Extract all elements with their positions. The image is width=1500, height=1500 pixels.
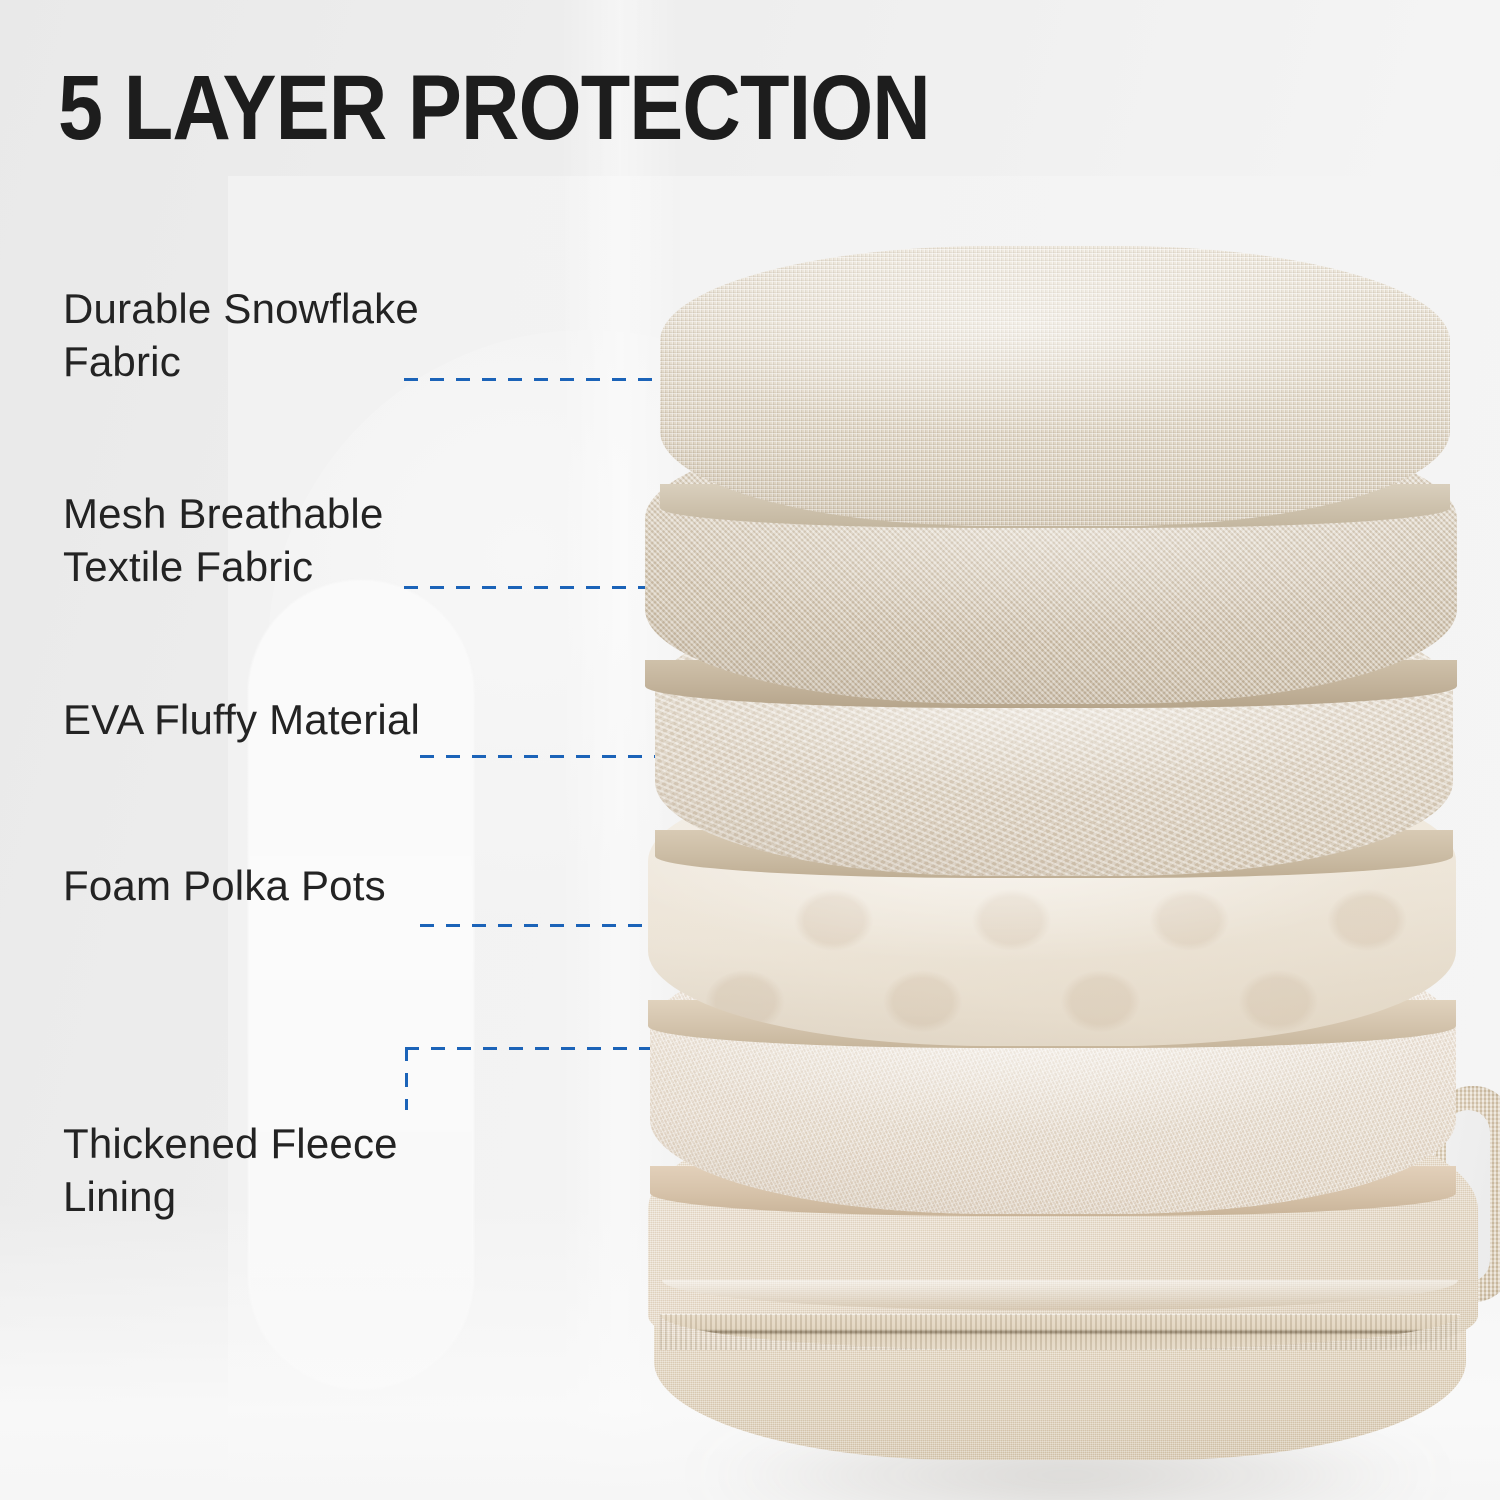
zipper bbox=[660, 1314, 1460, 1350]
layer-label-3: EVA Fluffy Material bbox=[63, 694, 420, 747]
page-title: 5 LAYER PROTECTION bbox=[58, 62, 930, 154]
layer-1-shading bbox=[660, 246, 1450, 526]
layer-label-5: Thickened Fleece Lining bbox=[63, 1118, 398, 1224]
layer-1-face bbox=[660, 246, 1450, 526]
leader-line-5-vertical bbox=[405, 1047, 408, 1110]
layer-label-1: Durable Snowflake Fabric bbox=[63, 283, 419, 389]
product-layer-1-snowflake bbox=[660, 246, 1450, 526]
layer-label-2: Mesh Breathable Textile Fabric bbox=[63, 488, 384, 594]
product-layer-stack bbox=[600, 190, 1500, 1500]
zipper-teeth bbox=[660, 1314, 1460, 1350]
layer-label-4: Foam Polka Pots bbox=[63, 860, 386, 913]
infographic-canvas: 5 LAYER PROTECTION Durable Snowflake Fab… bbox=[0, 0, 1500, 1500]
